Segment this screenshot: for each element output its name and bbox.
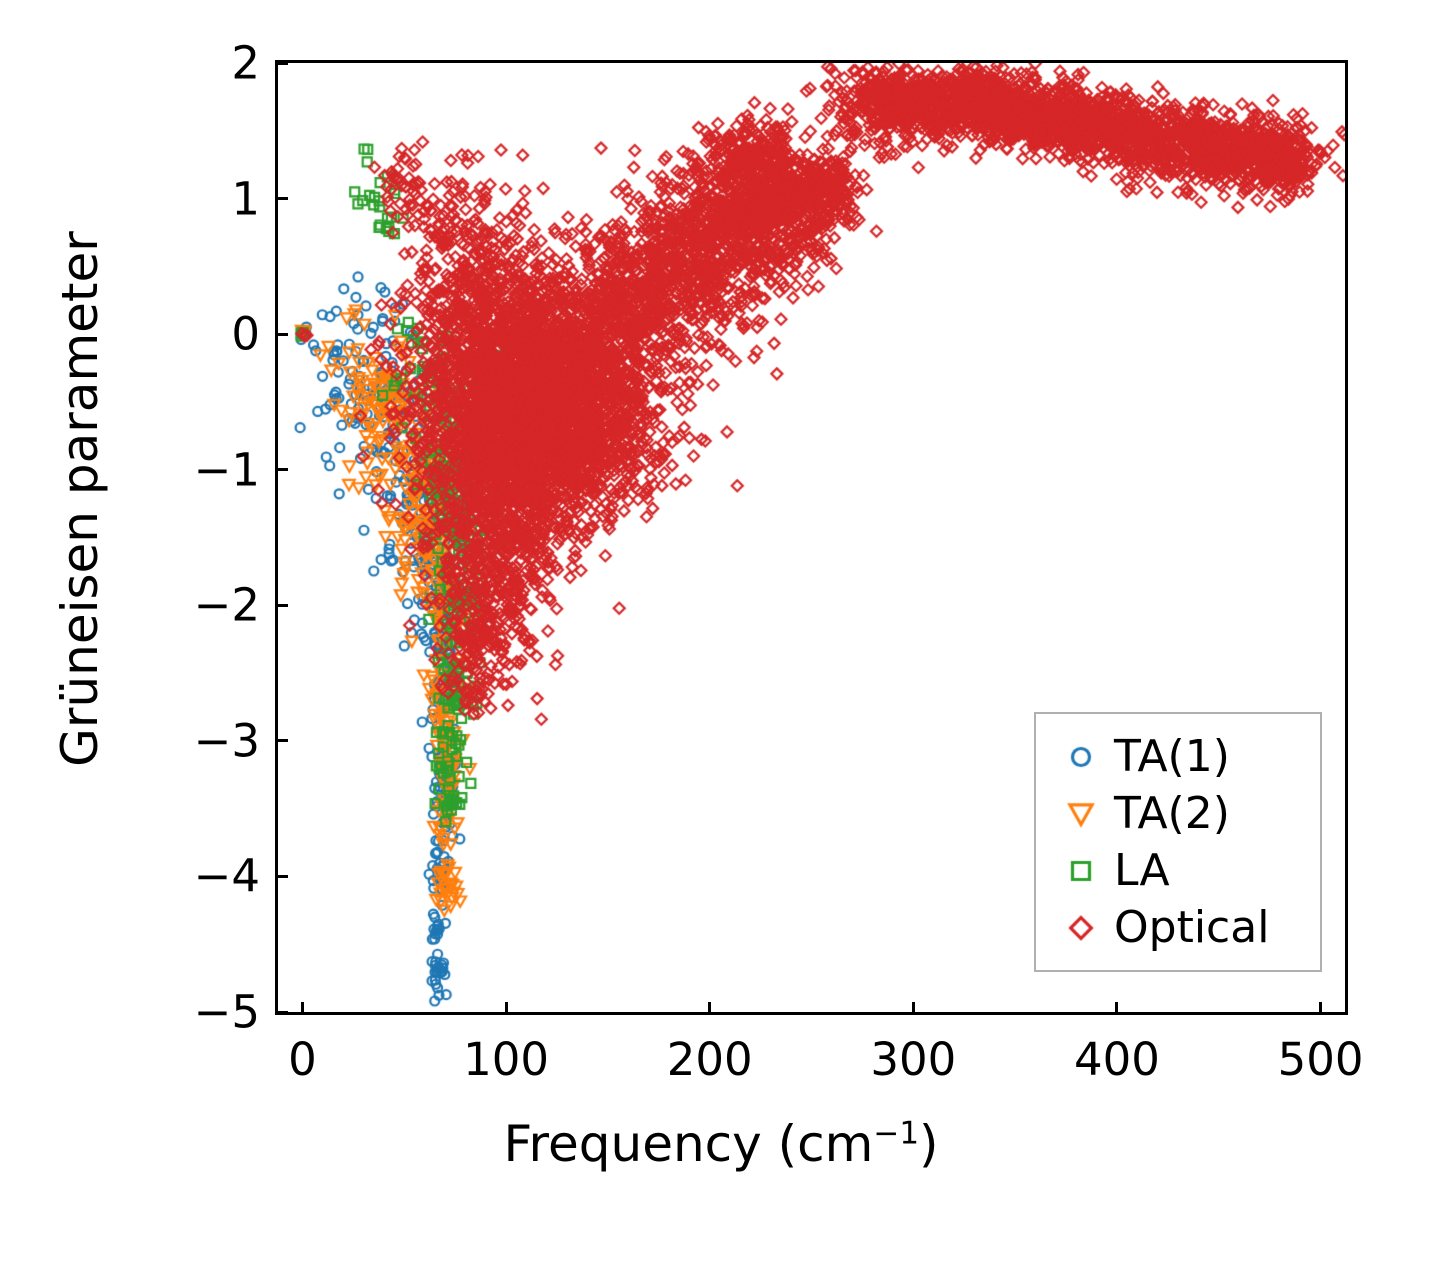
figure-canvas: 0100200300400500210−1−2−3−4−5 Frequency … [0,0,1442,1264]
legend-entry-la[interactable]: LA [1036,842,1320,899]
square-icon [1054,849,1108,893]
legend-entry-ta1[interactable]: TA(1) [1036,728,1320,785]
y-tick-1 [275,197,288,200]
y-tick-−5 [275,1011,288,1014]
y-tick-label: −4 [165,850,260,903]
y-tick-−4 [275,875,288,878]
y-axis-label-container: Grüneisen parameter [51,49,109,949]
legend-label: TA(2) [1114,788,1230,839]
x-tick-label: 100 [463,1033,549,1086]
x-tick-label: 500 [1278,1033,1364,1086]
x-tick-200 [708,1002,711,1015]
legend-label: TA(1) [1114,731,1230,782]
y-tick-label: 2 [165,37,260,90]
x-tick-label: 200 [667,1033,753,1086]
legend-entry-ta2[interactable]: TA(2) [1036,785,1320,842]
x-axis-label-text: Frequency (cm [503,1115,873,1173]
x-axis-label-exponent: −1 [873,1115,919,1151]
x-tick-label: 400 [1074,1033,1160,1086]
x-axis-label: Frequency (cm−1) [0,1115,1442,1173]
x-tick-100 [505,1002,508,1015]
x-tick-0 [301,1002,304,1015]
y-tick-label: −1 [165,443,260,496]
y-tick-label: −3 [165,714,260,767]
y-tick-−3 [275,739,288,742]
x-tick-label: 300 [870,1033,956,1086]
x-axis-label-paren: ) [919,1115,939,1173]
circle-icon [1054,735,1108,779]
triangle-down-icon [1054,792,1108,836]
y-tick-label: −5 [165,986,260,1039]
x-tick-400 [1115,1002,1118,1015]
x-tick-label: 0 [288,1033,317,1086]
legend-box[interactable]: TA(1)TA(2)LAOptical [1034,712,1322,972]
y-axis-label: Grüneisen parameter [51,231,109,767]
y-tick-label: 0 [165,308,260,361]
legend-label: Optical [1114,902,1269,953]
y-tick-label: 1 [165,172,260,225]
y-tick-0 [275,333,288,336]
y-tick-label: −2 [165,579,260,632]
diamond-icon [1054,906,1108,950]
y-tick-−1 [275,468,288,471]
legend-entry-optical[interactable]: Optical [1036,899,1320,956]
legend-label: LA [1114,845,1170,896]
x-tick-300 [912,1002,915,1015]
x-tick-500 [1319,1002,1322,1015]
y-tick-−2 [275,604,288,607]
y-tick-2 [275,62,288,65]
